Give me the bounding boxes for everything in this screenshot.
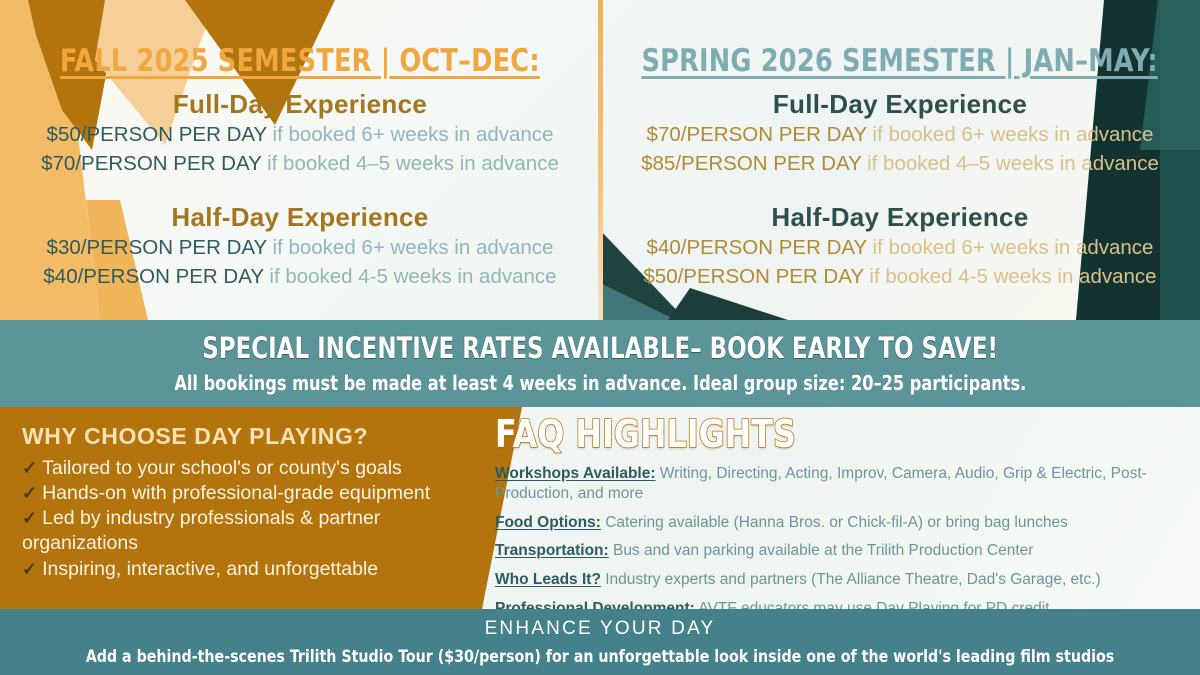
fall-half-day-price-row: $40/PERSON PER DAY if booked 4-5 weeks i… — [43, 262, 556, 291]
faq-row-label: Who Leads It? — [495, 571, 601, 588]
slide-root: FALL 2025 SEMESTER | OCT–DEC: Full-Day E… — [0, 0, 1200, 675]
spring-half-day-price-row: $50/PERSON PER DAY if booked 4-5 weeks i… — [643, 262, 1156, 291]
check-icon: ✓ — [22, 507, 37, 530]
fall-full-day-price-row: $70/PERSON PER DAY if booked 4–5 weeks i… — [41, 149, 559, 178]
spring-full-day-heading: Full-Day Experience — [773, 89, 1027, 120]
fall-full-day-heading: Full-Day Experience — [173, 89, 427, 120]
list-item: ✓Led by industry professionals & partner… — [22, 506, 492, 556]
faq-row-text: Bus and van parking available at the Tri… — [609, 542, 1034, 559]
footer-text: Add a behind-the-scenes Trilith Studio T… — [86, 647, 1115, 667]
fall-semester-panel: FALL 2025 SEMESTER | OCT–DEC: Full-Day E… — [0, 0, 600, 320]
price-amount: $40/PERSON PER DAY — [43, 265, 263, 288]
faq-list: Workshops Available: Writing, Directing,… — [495, 464, 1195, 609]
faq-row: Professional Development: AVTF educators… — [495, 599, 1195, 609]
list-item-label: Led by industry professionals & partner … — [22, 507, 380, 554]
price-amount: $70/PERSON PER DAY — [41, 152, 261, 175]
faq-panel: FAQ HIGHLIGHTS Workshops Available: Writ… — [495, 415, 1195, 609]
list-item: ✓Inspiring, interactive, and unforgettab… — [22, 557, 492, 582]
check-icon: ✓ — [22, 558, 37, 581]
faq-row-label: Workshops Available: — [495, 465, 656, 482]
pricing-section: FALL 2025 SEMESTER | OCT–DEC: Full-Day E… — [0, 0, 1200, 320]
fall-half-day-heading: Half-Day Experience — [171, 202, 428, 233]
price-condition: if booked 6+ weeks in advance — [267, 123, 554, 146]
price-amount: $50/PERSON PER DAY — [643, 265, 863, 288]
price-condition: if booked 6+ weeks in advance — [267, 236, 554, 259]
faq-row-label: Food Options: — [495, 514, 601, 531]
faq-row-label: Professional Development: — [495, 600, 695, 609]
price-amount: $70/PERSON PER DAY — [647, 123, 867, 146]
faq-row-text: AVTF educators may use Day Playing for P… — [695, 600, 1050, 609]
details-section: WHY CHOOSE DAY PLAYING? ✓Tailored to you… — [0, 407, 1200, 609]
incentive-banner: SPECIAL INCENTIVE RATES AVAILABLE– BOOK … — [0, 320, 1200, 407]
footer-heading: ENHANCE YOUR DAY — [485, 618, 716, 640]
list-item: ✓Tailored to your school's or county's g… — [22, 456, 492, 481]
list-item-label: Inspiring, interactive, and unforgettabl… — [42, 558, 378, 580]
price-amount: $50/PERSON PER DAY — [47, 123, 267, 146]
faq-row-text: Industry experts and partners (The Allia… — [601, 571, 1101, 588]
list-item-label: Tailored to your school's or county's go… — [42, 457, 402, 479]
price-condition: if booked 6+ weeks in advance — [867, 123, 1154, 146]
check-icon: ✓ — [22, 457, 37, 480]
faq-row: Transportation: Bus and van parking avai… — [495, 541, 1195, 561]
faq-row: Food Options: Catering available (Hanna … — [495, 513, 1195, 533]
banner-headline: SPECIAL INCENTIVE RATES AVAILABLE– BOOK … — [202, 333, 998, 364]
faq-row-text: Catering available (Hanna Bros. or Chick… — [601, 514, 1068, 531]
list-item: ✓Hands-on with professional-grade equipm… — [22, 481, 492, 506]
spring-semester-panel: SPRING 2026 SEMESTER | JAN–MAY: Full-Day… — [600, 0, 1200, 320]
faq-row-label: Transportation: — [495, 542, 609, 559]
banner-subline: All bookings must be made at least 4 wee… — [174, 372, 1026, 394]
fall-half-day-price-row: $30/PERSON PER DAY if booked 6+ weeks in… — [47, 233, 554, 262]
price-condition: if booked 4–5 weeks in advance — [261, 152, 558, 175]
faq-row: Who Leads It? Industry experts and partn… — [495, 570, 1195, 590]
faq-heading: FAQ HIGHLIGHTS — [495, 415, 1146, 453]
fall-full-day-price-row: $50/PERSON PER DAY if booked 6+ weeks in… — [47, 120, 554, 149]
why-choose-list: ✓Tailored to your school's or county's g… — [22, 456, 492, 582]
spring-half-day-heading: Half-Day Experience — [771, 202, 1028, 233]
why-choose-panel: WHY CHOOSE DAY PLAYING? ✓Tailored to you… — [22, 423, 492, 582]
check-icon: ✓ — [22, 482, 37, 505]
price-condition: if booked 4-5 weeks in advance — [264, 265, 557, 288]
spring-full-day-price-row: $70/PERSON PER DAY if booked 6+ weeks in… — [647, 120, 1154, 149]
list-item-label: Hands-on with professional-grade equipme… — [42, 482, 430, 504]
spring-semester-title: SPRING 2026 SEMESTER | JAN–MAY: — [642, 46, 1158, 77]
faq-row: Workshops Available: Writing, Directing,… — [495, 464, 1195, 504]
price-amount: $85/PERSON PER DAY — [641, 152, 861, 175]
enhance-your-day-footer: ENHANCE YOUR DAY Add a behind-the-scenes… — [0, 609, 1200, 675]
fall-semester-title: FALL 2025 SEMESTER | OCT–DEC: — [60, 46, 540, 77]
price-amount: $30/PERSON PER DAY — [47, 236, 267, 259]
price-condition: if booked 4-5 weeks in advance — [864, 265, 1157, 288]
price-amount: $40/PERSON PER DAY — [647, 236, 867, 259]
why-choose-heading: WHY CHOOSE DAY PLAYING? — [22, 423, 492, 450]
spring-full-day-price-row: $85/PERSON PER DAY if booked 4–5 weeks i… — [641, 149, 1159, 178]
spring-half-day-price-row: $40/PERSON PER DAY if booked 6+ weeks in… — [647, 233, 1154, 262]
price-condition: if booked 6+ weeks in advance — [867, 236, 1154, 259]
price-condition: if booked 4–5 weeks in advance — [861, 152, 1158, 175]
